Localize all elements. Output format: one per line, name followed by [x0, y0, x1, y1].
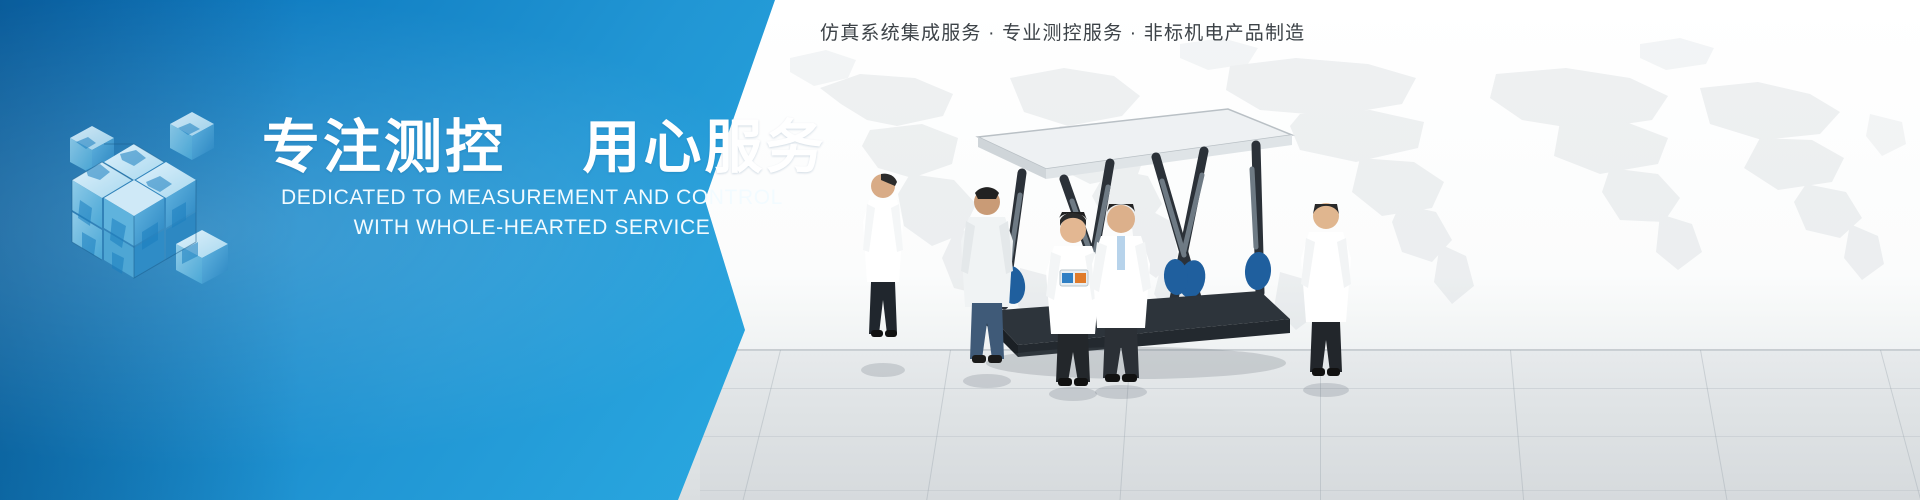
technician-right-woman [1295, 198, 1357, 398]
technician-walking-left [855, 170, 911, 380]
top-tagline: 仿真系统集成服务 · 专业测控服务 · 非标机电产品制造 [820, 18, 1305, 45]
subtitle-line-2: WITH WHOLE-HEARTED SERVICE [262, 216, 802, 240]
hero-banner: 仿真系统集成服务 · 专业测控服务 · 非标机电产品制造 [0, 0, 1920, 500]
technician-reading-man [1085, 200, 1157, 400]
subtitle-line-1: DEDICATED TO MEASUREMENT AND CONTROL [262, 186, 802, 210]
technician-back-center [955, 185, 1019, 390]
world-map-cube-icon [42, 92, 237, 292]
page-title: 专注测控 用心服务 [262, 118, 882, 179]
